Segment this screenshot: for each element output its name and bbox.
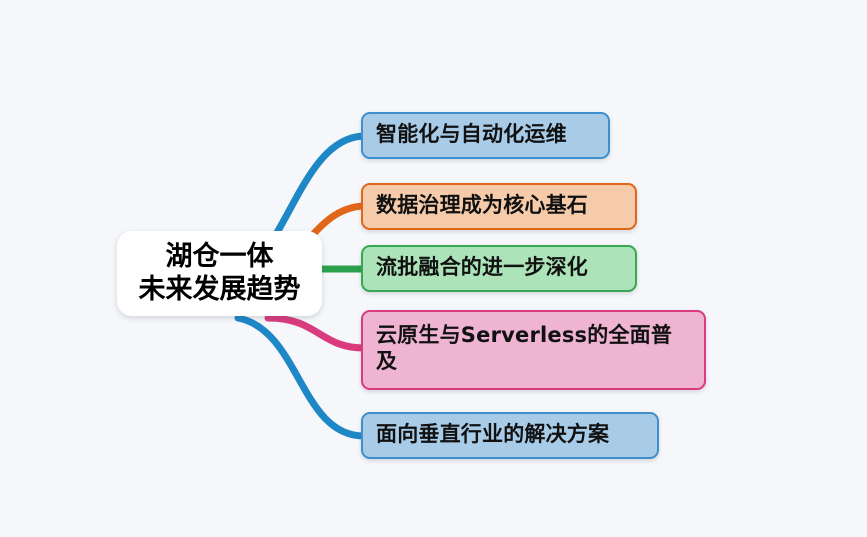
- mindmap-canvas: 湖仓一体 未来发展趋势 智能化与自动化运维 数据治理成为核心基石 流批融合的进一…: [0, 0, 867, 537]
- branch-node-4-label: 云原生与Serverless的全面普及: [376, 322, 691, 375]
- branch-node-5-label: 面向垂直行业的解决方案: [376, 421, 644, 447]
- branch-node-1[interactable]: 智能化与自动化运维: [361, 112, 610, 159]
- root-node-line-1: 湖仓一体: [166, 241, 274, 274]
- root-node-line-2: 未来发展趋势: [139, 274, 301, 307]
- branch-node-1-label: 智能化与自动化运维: [376, 121, 595, 147]
- branch-node-4[interactable]: 云原生与Serverless的全面普及: [361, 310, 706, 390]
- branch-node-3[interactable]: 流批融合的进一步深化: [361, 245, 637, 292]
- branch-node-5[interactable]: 面向垂直行业的解决方案: [361, 412, 659, 459]
- connector-branch-5: [238, 318, 364, 436]
- branch-node-3-label: 流批融合的进一步深化: [376, 254, 622, 280]
- branch-node-2[interactable]: 数据治理成为核心基石: [361, 183, 637, 230]
- connector-branch-4: [268, 318, 364, 348]
- root-node[interactable]: 湖仓一体 未来发展趋势: [117, 231, 322, 316]
- branch-node-2-label: 数据治理成为核心基石: [376, 192, 622, 218]
